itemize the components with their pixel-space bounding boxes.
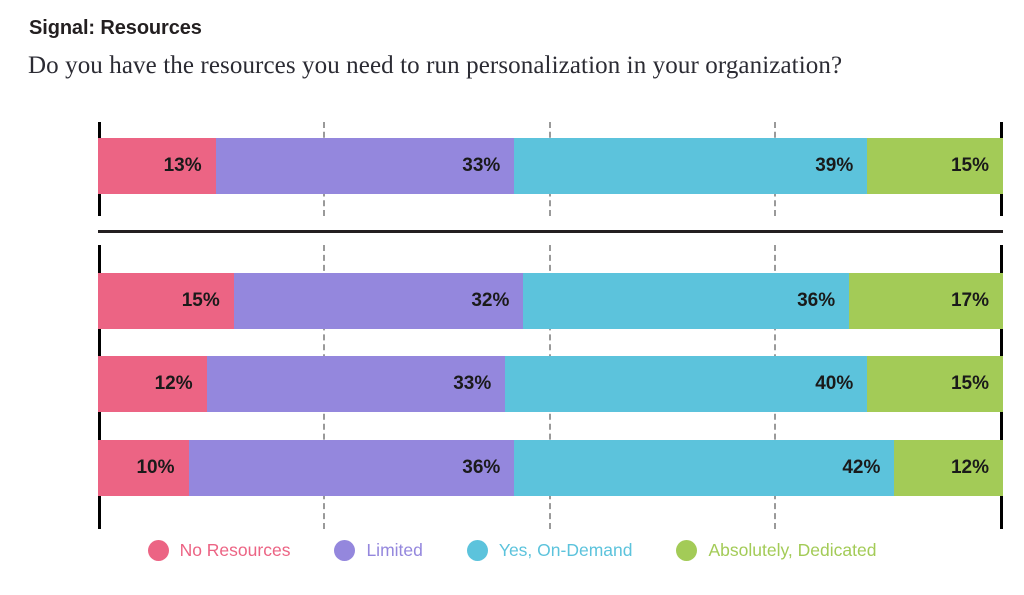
bar-segment-value: 33% — [453, 373, 505, 395]
bar-segment: 13% — [98, 138, 216, 194]
legend-label: Yes, On-Demand — [499, 540, 633, 561]
legend-label: No Resources — [180, 540, 291, 561]
panel-divider — [98, 230, 1003, 233]
bar-segment: 42% — [514, 440, 894, 496]
legend-item[interactable]: Yes, On-Demand — [467, 540, 633, 561]
bar-segment: 36% — [523, 273, 849, 329]
legend-item[interactable]: Absolutely, Dedicated — [676, 540, 876, 561]
bar-segment: 33% — [207, 356, 506, 412]
bar-segment: 33% — [216, 138, 515, 194]
bar-segment-value: 12% — [951, 457, 1003, 479]
bar-segment-value: 42% — [842, 457, 894, 479]
legend-item[interactable]: No Resources — [148, 540, 291, 561]
legend-swatch-icon — [676, 540, 697, 561]
chart-legend: No ResourcesLimitedYes, On-DemandAbsolut… — [0, 540, 1024, 561]
bar-segment-value: 15% — [182, 290, 234, 312]
bar-row: Global13%33%39%15% — [98, 138, 1003, 194]
bar-segment: 10% — [98, 440, 189, 496]
bar-segment-value: 13% — [164, 155, 216, 177]
bar-segment-value: 33% — [462, 155, 514, 177]
bar-segment-value: 40% — [815, 373, 867, 395]
bar-segment: 12% — [98, 356, 207, 412]
legend-swatch-icon — [334, 540, 355, 561]
bar-row: AMER15%32%36%17% — [98, 273, 1003, 329]
bar-segment: 15% — [867, 138, 1003, 194]
legend-item[interactable]: Limited — [334, 540, 422, 561]
bar-segment-value: 12% — [155, 373, 207, 395]
bar-segment: 12% — [894, 440, 1003, 496]
bar-segment-value: 36% — [462, 457, 514, 479]
bar-segment-value: 32% — [471, 290, 523, 312]
legend-label: Absolutely, Dedicated — [708, 540, 876, 561]
bar-row: EMEA10%36%42%12% — [98, 440, 1003, 496]
bar-segment-value: 17% — [951, 290, 1003, 312]
bar-segment: 39% — [514, 138, 867, 194]
bar-segment: 15% — [98, 273, 234, 329]
chart-page: Signal: Resources Do you have the resour… — [0, 0, 1024, 595]
bar-segment-value: 39% — [815, 155, 867, 177]
bar-segment: 36% — [189, 440, 515, 496]
legend-swatch-icon — [148, 540, 169, 561]
bar-segment: 15% — [867, 356, 1003, 412]
bar-row: APAC12%33%40%15% — [98, 356, 1003, 412]
bar-segment-value: 10% — [136, 457, 188, 479]
bar-segment-value: 15% — [951, 155, 1003, 177]
bar-segment: 40% — [505, 356, 867, 412]
page-subtitle: Do you have the resources you need to ru… — [28, 52, 842, 80]
bar-segment: 17% — [849, 273, 1003, 329]
bar-segment: 32% — [234, 273, 524, 329]
page-title: Signal: Resources — [29, 17, 202, 40]
bar-segment-value: 36% — [797, 290, 849, 312]
legend-swatch-icon — [467, 540, 488, 561]
legend-label: Limited — [366, 540, 422, 561]
bar-segment-value: 15% — [951, 373, 1003, 395]
